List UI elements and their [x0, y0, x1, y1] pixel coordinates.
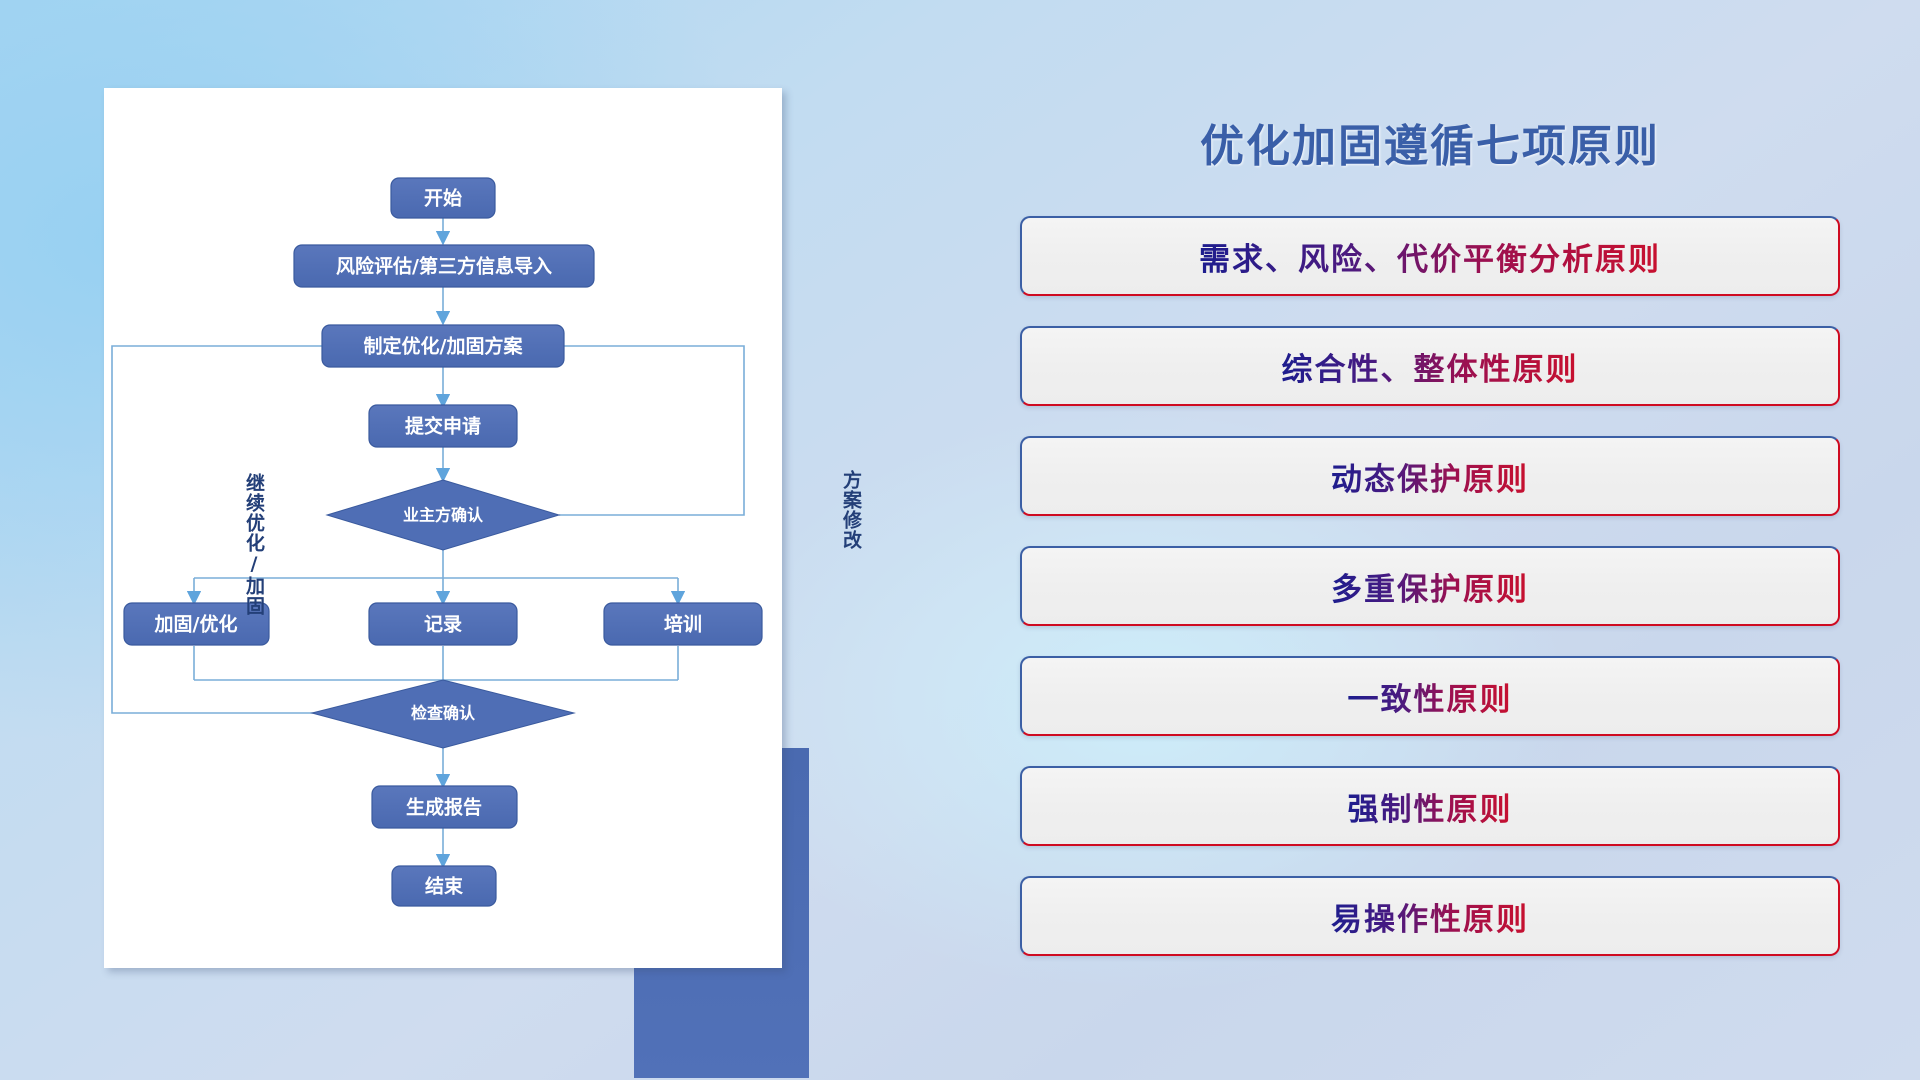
principle-item-2[interactable]: 综合性、整体性原则 [1020, 326, 1840, 406]
principle-label: 动态保护原则 [1331, 454, 1529, 499]
principle-item-3[interactable]: 动态保护原则 [1020, 436, 1840, 516]
flow-node-label: 检查确认 [411, 704, 476, 723]
flowchart-card: 开始 风险评估/第三方信息导入 制定优化/加固方案 提交申请 业主方确认 [104, 88, 782, 968]
principle-label: 综合性、整体性原则 [1282, 344, 1579, 389]
principles-panel: 优化加固遵循七项原则 需求、风险、代价平衡分析原则 综合性、整体性原则 动态保护… [1020, 110, 1840, 1010]
flow-node-label: 提交申请 [405, 415, 481, 438]
flow-node-label: 制定优化/加固方案 [364, 335, 524, 358]
principle-label: 强制性原则 [1348, 784, 1513, 829]
flow-node-report[interactable]: 生成报告 [372, 786, 517, 828]
panel-title: 优化加固遵循七项原则 [1020, 110, 1840, 174]
edge-label-continue-optimize: 继续优化/加固 [244, 473, 263, 616]
flow-node-plan[interactable]: 制定优化/加固方案 [322, 325, 564, 367]
principle-item-1[interactable]: 需求、风险、代价平衡分析原则 [1020, 216, 1840, 296]
flow-node-label: 培训 [664, 613, 702, 636]
flow-node-record[interactable]: 记录 [369, 603, 517, 645]
flow-node-owner-confirm[interactable]: 业主方确认 [327, 480, 559, 550]
edge-label-plan-revise: 方案修改 [841, 470, 860, 550]
flow-node-submit[interactable]: 提交申请 [369, 405, 517, 447]
flow-node-label: 风险评估/第三方信息导入 [336, 255, 552, 278]
principle-item-4[interactable]: 多重保护原则 [1020, 546, 1840, 626]
principle-label: 多重保护原则 [1331, 564, 1529, 609]
principle-item-6[interactable]: 强制性原则 [1020, 766, 1840, 846]
flow-node-end[interactable]: 结束 [392, 866, 496, 906]
flow-node-check[interactable]: 检查确认 [312, 680, 574, 748]
flow-node-assess[interactable]: 风险评估/第三方信息导入 [294, 245, 594, 287]
flow-node-label: 开始 [424, 187, 462, 210]
flow-node-start[interactable]: 开始 [391, 178, 495, 218]
principle-item-7[interactable]: 易操作性原则 [1020, 876, 1840, 956]
flow-node-label: 加固/优化 [154, 613, 238, 636]
flowchart-svg: 开始 风险评估/第三方信息导入 制定优化/加固方案 提交申请 业主方确认 [104, 88, 782, 968]
principle-label: 易操作性原则 [1331, 894, 1529, 939]
flowchart-panel: 开始 风险评估/第三方信息导入 制定优化/加固方案 提交申请 业主方确认 [104, 88, 804, 988]
flow-node-label: 生成报告 [406, 796, 482, 819]
principle-label: 需求、风险、代价平衡分析原则 [1199, 234, 1661, 279]
flow-node-label: 记录 [424, 614, 462, 636]
flow-node-train[interactable]: 培训 [604, 603, 762, 645]
principle-item-5[interactable]: 一致性原则 [1020, 656, 1840, 736]
flow-node-label: 结束 [425, 875, 464, 898]
flow-node-label: 业主方确认 [403, 506, 484, 525]
principle-label: 一致性原则 [1348, 674, 1513, 719]
